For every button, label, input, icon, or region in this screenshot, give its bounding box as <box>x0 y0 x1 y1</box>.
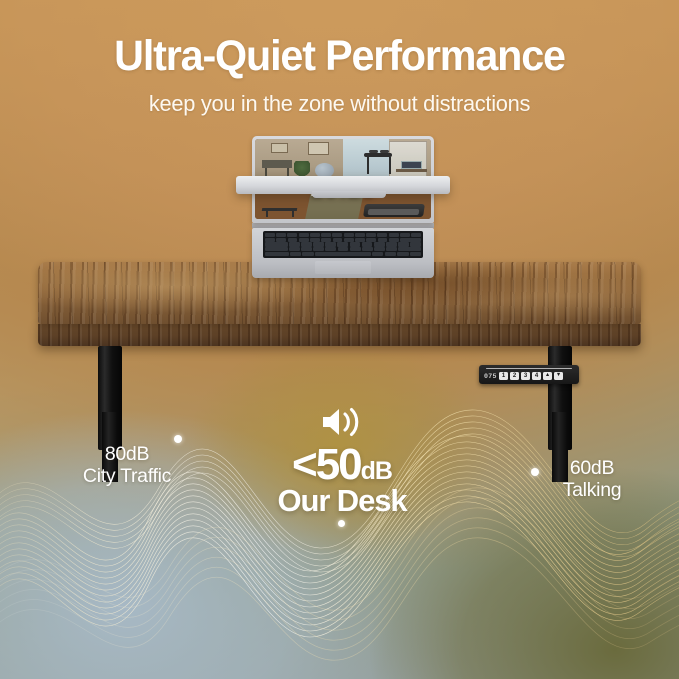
screen-wall-art-2 <box>308 142 329 155</box>
our-desk-value-row: <50dB <box>262 443 422 486</box>
screen-low-table-leg-right <box>292 210 294 217</box>
screen-treadmill-belt <box>367 209 419 215</box>
wave-marker-dot-center <box>338 520 345 527</box>
city-traffic-value: 80dB <box>52 444 202 466</box>
laptop-base <box>252 228 434 278</box>
laptop-keyboard[interactable] <box>263 231 423 258</box>
screen-weight-rack-leg-right <box>389 157 391 175</box>
laptop-stand-lip <box>312 191 386 198</box>
preset-button-2[interactable]: 2 <box>510 372 518 380</box>
screen-right-desk <box>396 169 428 171</box>
city-traffic-label: City Traffic <box>52 466 202 488</box>
talking-value: 60dB <box>528 458 656 480</box>
screen-wall-art-1 <box>271 143 289 153</box>
our-desk-label: Our Desk <box>262 485 422 517</box>
promo-image: Ultra-Quiet Performance keep you in the … <box>0 0 679 679</box>
noise-marker-talking: 60dB Talking <box>528 458 656 502</box>
laptop-trackpad[interactable] <box>315 261 371 274</box>
our-desk-value: <50 <box>292 443 361 486</box>
preset-button-3[interactable]: 3 <box>521 372 529 380</box>
preset-button-4[interactable]: 4 <box>532 372 540 380</box>
heading-block: Ultra-Quiet Performance keep you in the … <box>0 34 679 117</box>
screen-dumbbell-2 <box>380 150 389 153</box>
screen-weight-rack-leg-left <box>367 157 369 175</box>
laptop-on-stand: 10:29 <box>252 136 434 278</box>
page-title: Ultra-Quiet Performance <box>14 34 666 80</box>
wave-marker-dot-left <box>174 435 182 443</box>
lower-down-button[interactable]: ▼ <box>554 372 562 380</box>
noise-marker-our-desk: <50dB Our Desk <box>262 404 422 517</box>
desk-front-edge <box>38 324 641 346</box>
speaker-wave-icon <box>319 404 365 440</box>
our-desk-unit: dB <box>361 459 392 484</box>
preset-button-1[interactable]: 1 <box>499 372 507 380</box>
talking-label: Talking <box>528 480 656 502</box>
screen-side-desk <box>262 160 292 168</box>
raise-up-button[interactable]: ▲ <box>543 372 551 380</box>
height-control-panel[interactable]: 075 1 2 3 4 ▲ ▼ <box>479 365 579 384</box>
height-display: 075 <box>484 373 497 380</box>
noise-marker-city-traffic: 80dB City Traffic <box>52 444 202 488</box>
wave-marker-dot-right <box>531 468 539 476</box>
screen-dumbbell-1 <box>369 150 378 153</box>
screen-right-monitor <box>401 161 422 169</box>
keyboard-row <box>265 252 421 256</box>
screen-low-table-leg-left <box>266 210 268 217</box>
page-subtitle: keep you in the zone without distraction… <box>10 91 669 117</box>
